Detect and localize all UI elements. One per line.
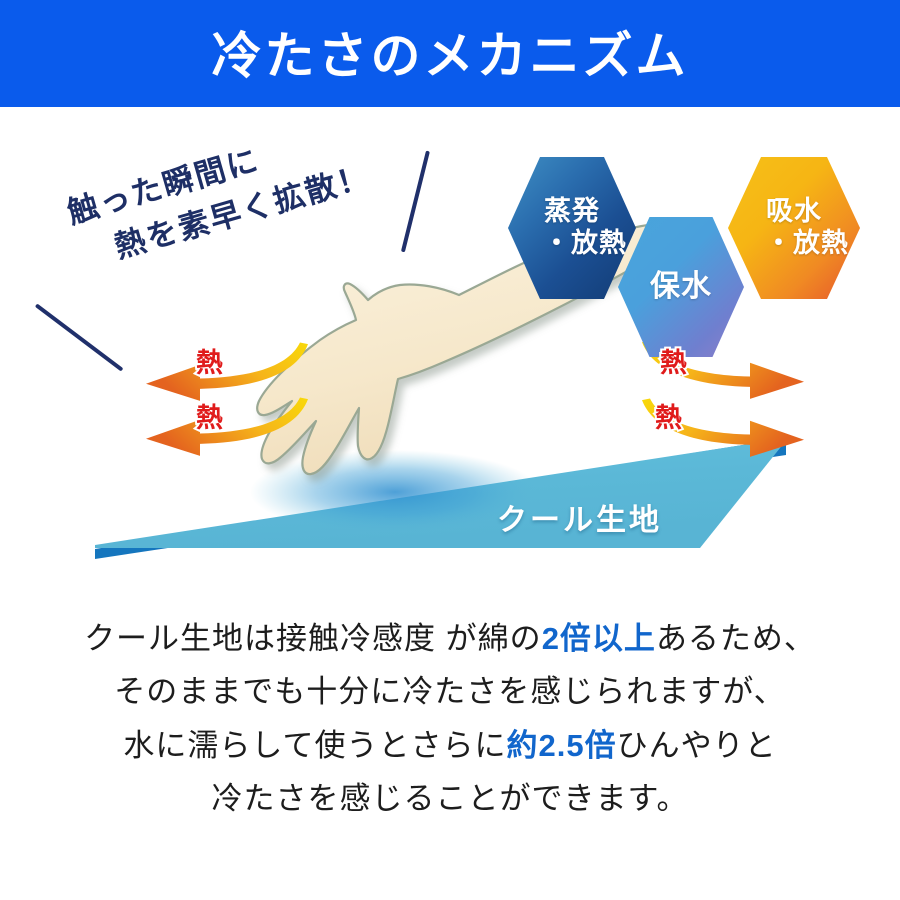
hex-absorption-line1: 吸水 bbox=[766, 196, 822, 226]
hex-badge-absorption-label: 吸水 ・放熱 bbox=[739, 196, 849, 260]
description-paragraph: クール生地は接触冷感度 が綿の2倍以上あるため、 そのままでも十分に冷たさを感じ… bbox=[0, 612, 900, 825]
page-title: 冷たさのメカニズム bbox=[212, 31, 689, 81]
heat-label-left-upper: 熱 bbox=[196, 350, 223, 377]
description-line-2: そのままでも十分に冷たさを感じられますが、 bbox=[0, 665, 900, 718]
heat-label-left-lower: 熱 bbox=[196, 405, 223, 432]
description-line-3: 水に濡らして使うとさらに約2.5倍ひんやりと bbox=[0, 719, 900, 772]
hex-absorption-line2: ・放熱 bbox=[739, 228, 849, 260]
heat-label-right-lower: 熱 bbox=[655, 405, 682, 432]
hex-badge-evaporation-label: 蒸発 ・放熱 bbox=[517, 196, 627, 260]
illustration-stage: 触った瞬間に 熱を素早く拡散！ 蒸発 ・放熱 保水 吸水 ・放熱 bbox=[0, 107, 900, 607]
hex-evaporation-line2: ・放熱 bbox=[517, 228, 627, 260]
description-line-1-pre: クール生地は接触冷感度 が綿の bbox=[84, 621, 542, 656]
hex-evaporation-line1: 蒸発 bbox=[544, 196, 600, 226]
infographic-page: 冷たさのメカニズム 触った瞬間に 熱を素早く拡散！ 蒸発 ・放熱 保水 吸水 ・… bbox=[0, 0, 900, 900]
description-line-1-post: あるため、 bbox=[656, 621, 816, 656]
heat-arrow-left-lower bbox=[140, 402, 310, 464]
heat-label-right-upper: 熱 bbox=[660, 350, 687, 377]
highlight-2-5x: 約2.5倍 bbox=[506, 728, 616, 763]
description-line-4: 冷たさを感じることができます。 bbox=[0, 772, 900, 825]
heat-arrow-left-upper bbox=[140, 347, 310, 409]
header-banner: 冷たさのメカニズム bbox=[0, 0, 900, 107]
description-line-3-pre: 水に濡らして使うとさらに bbox=[123, 728, 506, 763]
highlight-2x: 2倍以上 bbox=[542, 621, 656, 656]
description-line-1: クール生地は接触冷感度 が綿の2倍以上あるため、 bbox=[0, 612, 900, 665]
description-line-3-post: ひんやりと bbox=[617, 728, 777, 763]
hex-badge-water-retention-label: 保水 bbox=[650, 269, 712, 304]
